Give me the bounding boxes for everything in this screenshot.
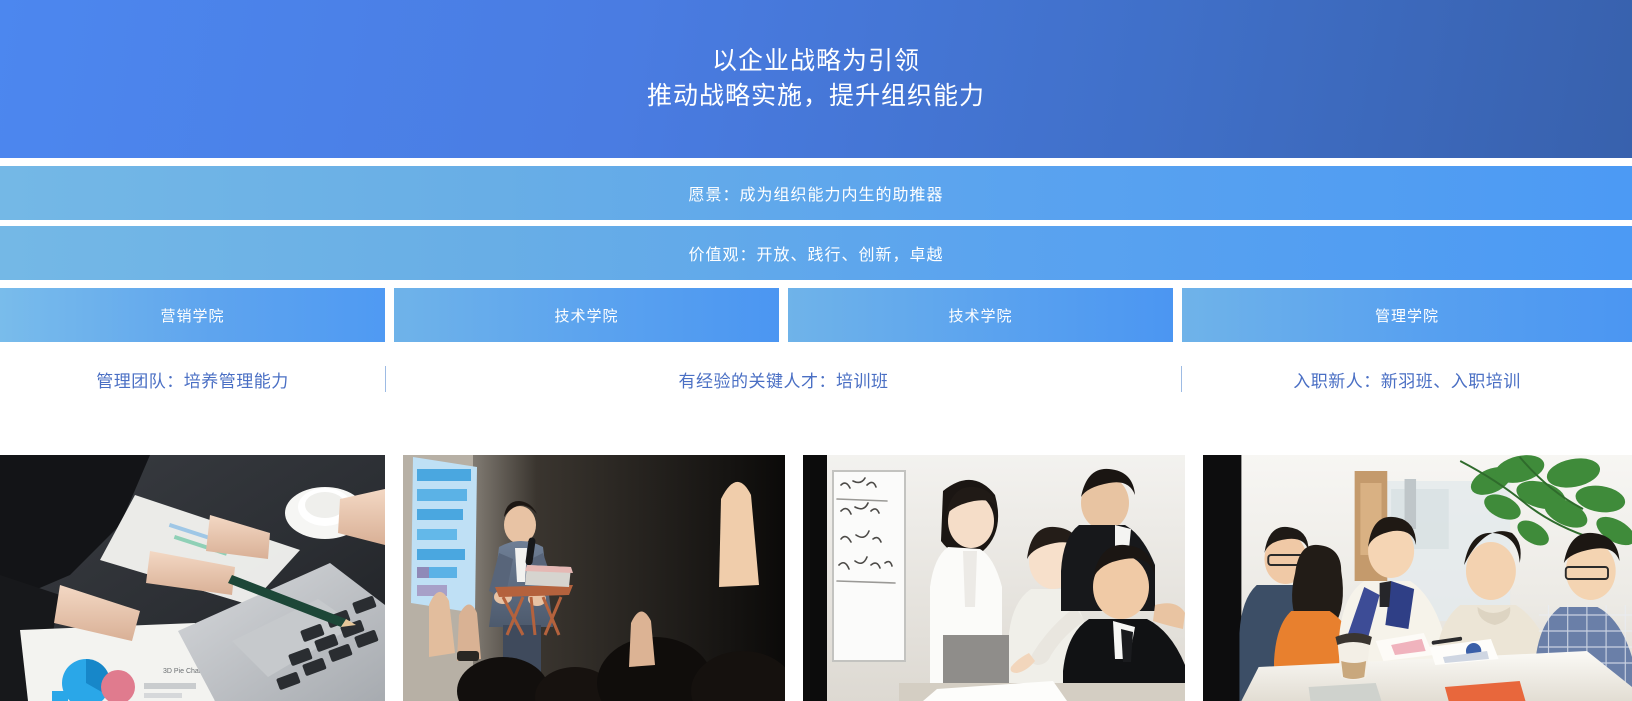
description-cell-new-hires: 入职新人：新羽班、入职培训 [1182, 350, 1632, 408]
photo-speaker-podium-audience-graphic [403, 455, 785, 701]
vision-banner: 愿景：成为组织能力内生的助推器 [0, 166, 1632, 220]
photo-young-team-office-table-graphic [1203, 455, 1632, 701]
hero-title-line-1: 以企业战略为引领 [712, 44, 920, 79]
academy-tab-technology-1[interactable]: 技术学院 [394, 288, 779, 342]
academy-tab-row: 营销学院 技术学院 技术学院 管理学院 [0, 288, 1632, 342]
academy-tab-label: 管理学院 [1375, 305, 1439, 326]
academy-tab-label: 技术学院 [948, 305, 1012, 326]
description-text: 管理团队：培养管理能力 [96, 367, 289, 392]
academy-tab-management[interactable]: 管理学院 [1182, 288, 1632, 342]
photo-team-whiteboard-discussion [803, 455, 1185, 701]
description-cell-management-team: 管理团队：培养管理能力 [0, 350, 385, 408]
hero-banner: 以企业战略为引领 推动战略实施，提升组织能力 [0, 0, 1632, 158]
description-row: 管理团队：培养管理能力 有经验的关键人才：培训班 入职新人：新羽班、入职培训 [0, 350, 1632, 408]
photo-strip: 3D Pie Chart Slide [0, 455, 1632, 701]
academy-tab-label: 技术学院 [554, 305, 618, 326]
photo-speaker-podium-audience [403, 455, 785, 701]
values-banner: 价值观：开放、践行、创新，卓越 [0, 226, 1632, 280]
description-text: 有经验的关键人才：培训班 [679, 367, 889, 392]
photo-business-meeting-laptop: 3D Pie Chart Slide [0, 455, 385, 701]
photo-young-team-office-table [1203, 455, 1632, 701]
photo-team-whiteboard-discussion-graphic [803, 455, 1185, 701]
values-text: 价值观：开放、践行、创新，卓越 [688, 241, 943, 265]
description-text: 入职新人：新羽班、入职培训 [1293, 367, 1521, 392]
academy-tab-label: 营销学院 [160, 305, 224, 326]
academy-tab-marketing[interactable]: 营销学院 [0, 288, 385, 342]
hero-title-line-2: 推动战略实施，提升组织能力 [647, 79, 985, 114]
photo-business-meeting-laptop-graphic: 3D Pie Chart Slide [0, 455, 385, 701]
vision-text: 愿景：成为组织能力内生的助推器 [688, 181, 943, 205]
slide-root: 以企业战略为引领 推动战略实施，提升组织能力 愿景：成为组织能力内生的助推器 价… [0, 0, 1632, 701]
academy-tab-technology-2[interactable]: 技术学院 [788, 288, 1173, 342]
description-cell-experienced-talent: 有经验的关键人才：培训班 [386, 350, 1181, 408]
